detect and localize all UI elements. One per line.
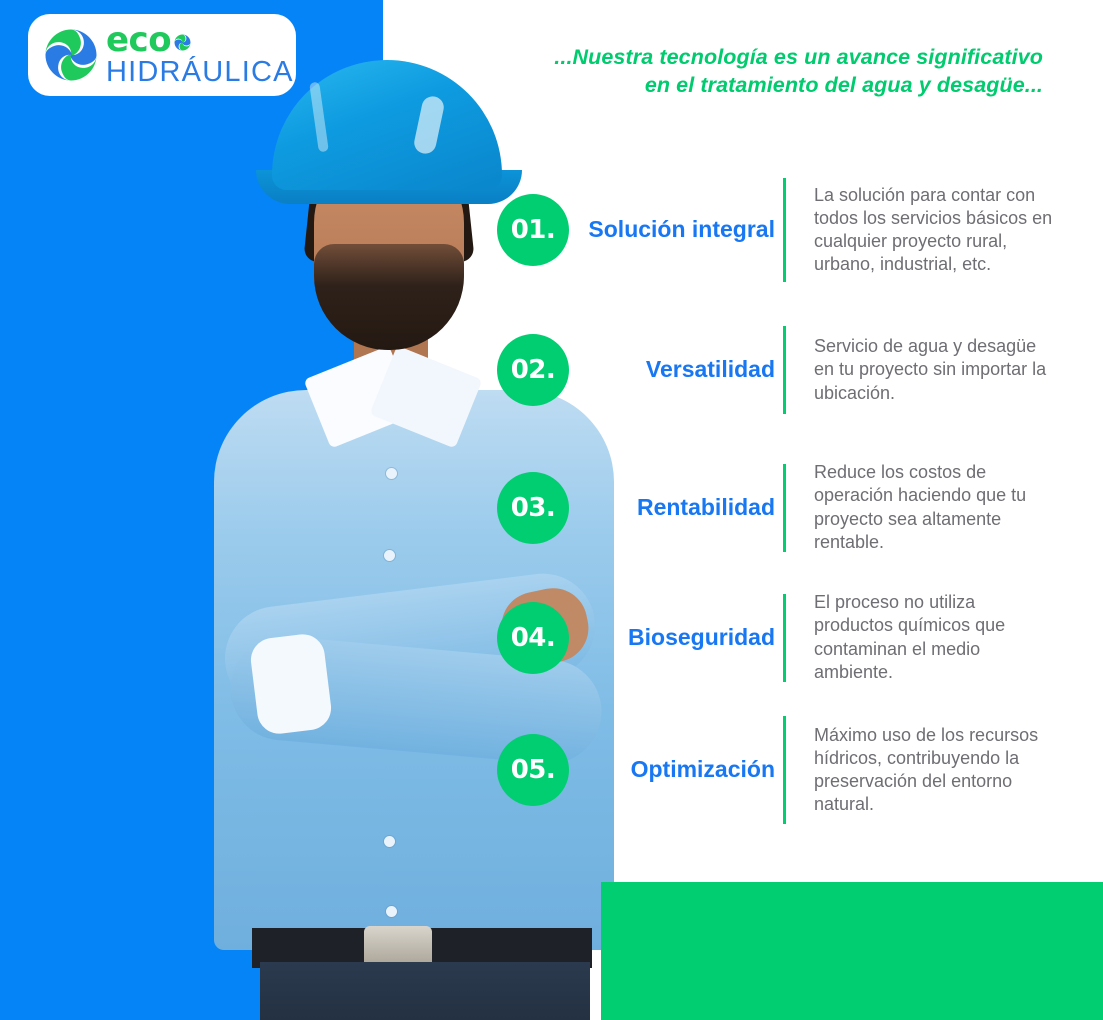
feature-title: Bioseguridad bbox=[585, 625, 783, 651]
feature-number-badge: 04. bbox=[497, 602, 569, 674]
eco-swirl-o-icon bbox=[173, 33, 192, 52]
photo-cuff bbox=[248, 632, 333, 736]
feature-description: Servicio de agua y desagüe en tu proyect… bbox=[814, 335, 1057, 404]
feature-item-3[interactable]: 03. Rentabilidad Reduce los costos de op… bbox=[497, 440, 1057, 575]
feature-divider bbox=[783, 716, 786, 824]
feature-number-badge: 03. bbox=[497, 472, 569, 544]
feature-number-badge: 05. bbox=[497, 734, 569, 806]
photo-shirt-button bbox=[384, 550, 395, 561]
feature-title: Rentabilidad bbox=[585, 495, 783, 521]
feature-item-2[interactable]: 02. Versatilidad Servicio de agua y desa… bbox=[497, 300, 1057, 440]
photo-trousers bbox=[260, 962, 590, 1020]
feature-number-badge: 01. bbox=[497, 194, 569, 266]
feature-item-4[interactable]: 04. Bioseguridad El proceso no utiliza p… bbox=[497, 575, 1057, 700]
feature-description: La solución para contar con todos los se… bbox=[814, 184, 1057, 276]
feature-divider bbox=[783, 326, 786, 414]
feature-item-5[interactable]: 05. Optimización Máximo uso de los recur… bbox=[497, 700, 1057, 840]
feature-title: Optimización bbox=[585, 757, 783, 783]
feature-description: El proceso no utiliza productos químicos… bbox=[814, 591, 1057, 683]
feature-title: Versatilidad bbox=[585, 357, 783, 383]
feature-list: 01. Solución integral La solución para c… bbox=[497, 160, 1057, 840]
photo-shirt-button bbox=[386, 468, 397, 479]
photo-shirt-button bbox=[384, 836, 395, 847]
brand-logo[interactable]: eco HIDRÁULICA bbox=[28, 14, 296, 96]
photo-beard bbox=[314, 244, 464, 350]
brand-name-eco: eco bbox=[106, 23, 171, 57]
feature-number-badge: 02. bbox=[497, 334, 569, 406]
feature-description: Máximo uso de los recursos hídricos, con… bbox=[814, 724, 1057, 816]
feature-item-1[interactable]: 01. Solución integral La solución para c… bbox=[497, 160, 1057, 300]
page-headline: ...Nuestra tecnología es un avance signi… bbox=[523, 44, 1043, 99]
brand-name-hidraulica: HIDRÁULICA bbox=[106, 58, 294, 87]
feature-divider bbox=[783, 594, 786, 682]
feature-divider bbox=[783, 464, 786, 552]
photo-shirt-button bbox=[386, 906, 397, 917]
bottom-right-green-block bbox=[601, 882, 1103, 1020]
feature-divider bbox=[783, 178, 786, 282]
eco-swirl-logo-icon bbox=[42, 26, 100, 84]
poster-canvas: eco HIDRÁULICA ...Nuestra tecnología es … bbox=[0, 0, 1103, 1020]
photo-helmet bbox=[272, 60, 502, 190]
brand-wordmark: eco HIDRÁULICA bbox=[106, 23, 294, 87]
feature-description: Reduce los costos de operación haciendo … bbox=[814, 461, 1057, 553]
feature-title: Solución integral bbox=[585, 217, 783, 243]
